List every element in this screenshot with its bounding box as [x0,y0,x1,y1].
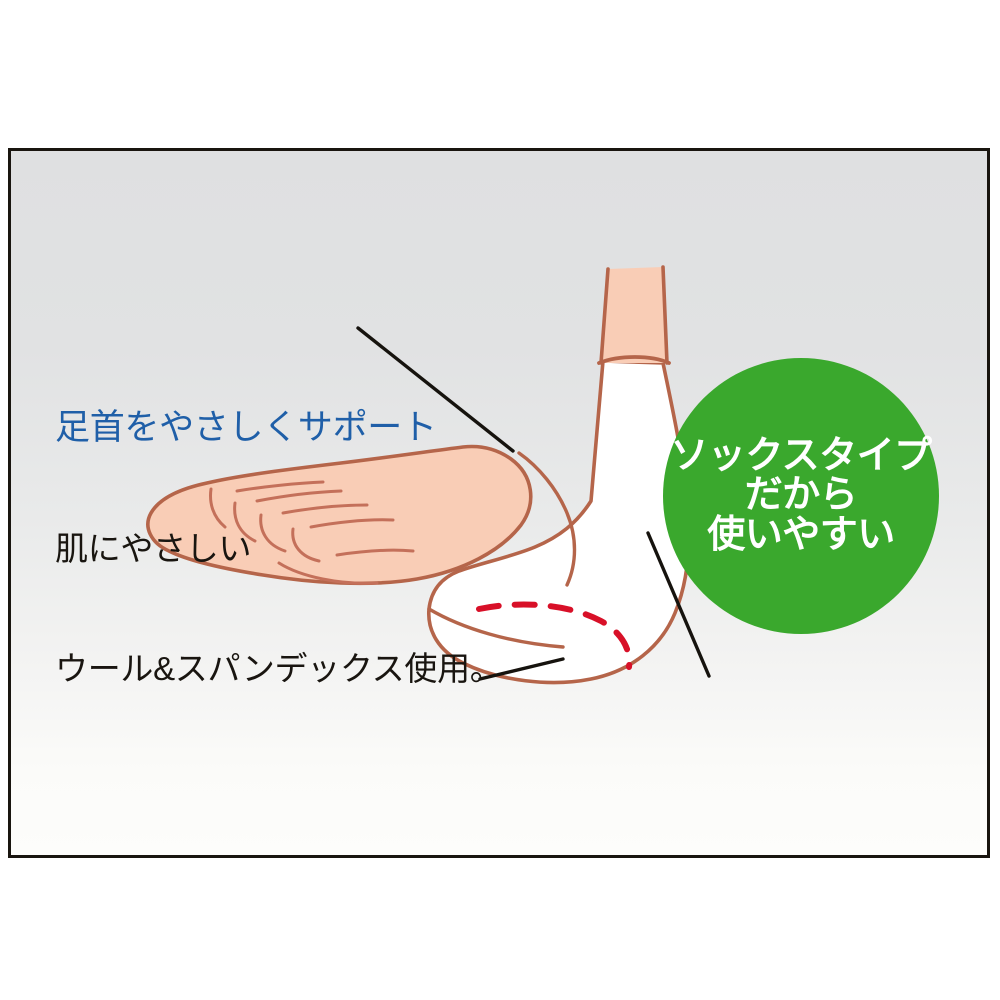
callout-ankle-body-line-1: 肌にやさしい [55,530,502,569]
image-root: ソックスタイプ だから 使いやすい 足首をやさしくサポート 肌にやさしい ウール… [0,0,1000,1000]
illustration-panel: ソックスタイプ だから 使いやすい 足首をやさしくサポート 肌にやさしい ウール… [8,148,990,858]
badge-line-2: だから [745,476,858,516]
badge-line-1: ソックスタイプ [670,437,931,477]
callout-ankle-heading: 足首をやさしくサポート [55,407,502,448]
leg-skin-fill [601,267,667,363]
badge-line-3: 使いやすい [707,516,895,556]
lower-leg-skin [601,267,667,363]
sock-type-badge: ソックスタイプ だから 使いやすい [663,358,939,634]
callout-ankle-body-line-2: ウール&スパンデックス使用。 [55,650,502,689]
callout-comfort-fit: 快適フィット! 保温性に通気性を プラス。 [666,833,911,858]
callout-sorbothane: 人工筋肉「ソルボセイン」 かかとにかかる衝撃を大幅に 軽減。足のトラブルをやわら… [61,831,578,858]
callout-ankle-support: 足首をやさしくサポート 肌にやさしい ウール&スパンデックス使用。 [55,329,502,770]
